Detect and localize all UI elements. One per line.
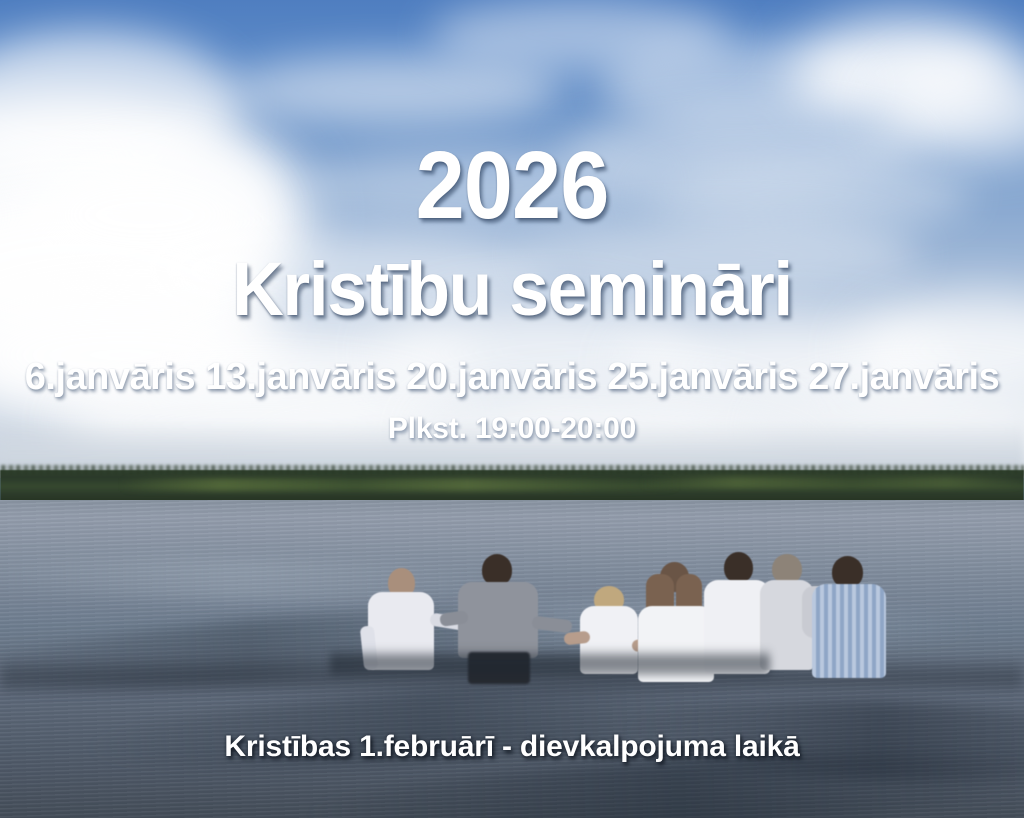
poster-time: Plkst. 19:00-20:00 [0,414,1024,444]
poster-footer-note: Kristības 1.februārī - dievkalpojuma lai… [0,732,1024,762]
poster-year: 2026 [41,138,983,234]
poster-text-overlay: 2026 Kristību semināri 6.janvāris 13.jan… [0,0,1024,818]
poster-headline: Kristību semināri [31,252,994,328]
poster-dates-line: 6.janvāris 13.janvāris 20.janvāris 25.ja… [0,358,1024,396]
poster: 2026 Kristību semināri 6.janvāris 13.jan… [0,0,1024,818]
